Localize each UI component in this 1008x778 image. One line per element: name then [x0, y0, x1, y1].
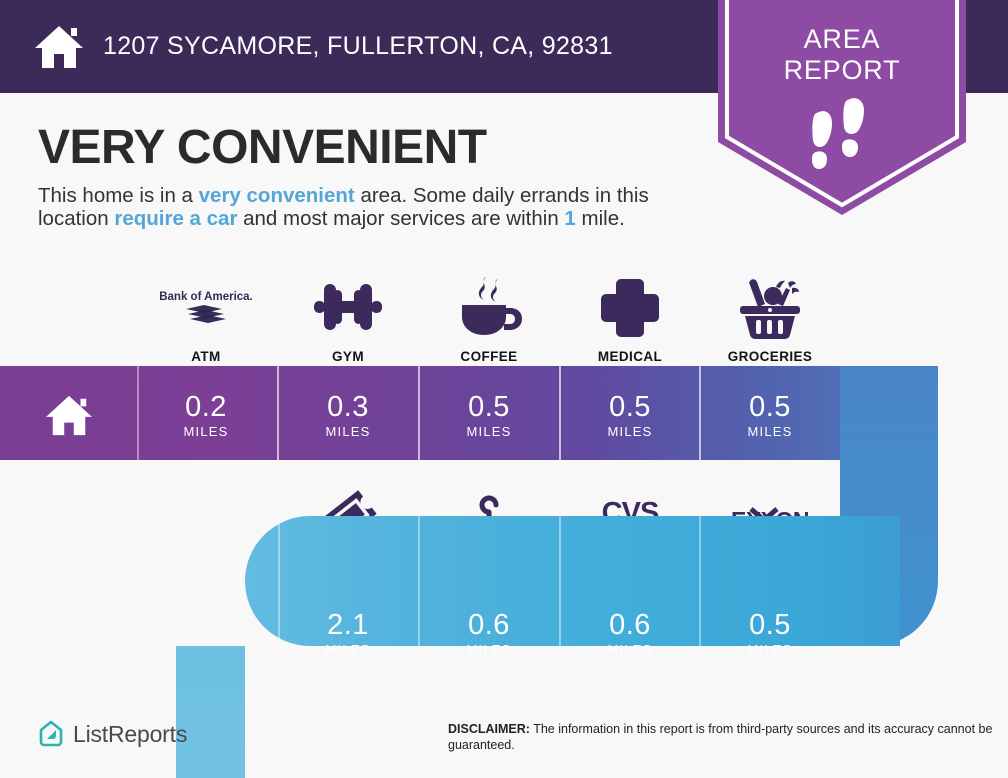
distance-value: 0.5 [559, 392, 701, 422]
distance-unit: MILES [699, 642, 841, 658]
distance-value: 0.6 [418, 610, 560, 640]
distance-unit: MILES [559, 424, 701, 440]
icon-label: GYM [332, 349, 364, 364]
badge-line-2: REPORT [718, 55, 966, 86]
home-marker-icon [44, 393, 94, 437]
home-icon [33, 24, 85, 70]
summary-highlight: 1 [564, 207, 575, 230]
distance-value: 0.3 [277, 392, 419, 422]
distance-unit: MILES [277, 424, 419, 440]
distance-value: 2.1 [277, 610, 419, 640]
distance-groceries: 0.5 MILES [699, 392, 841, 440]
distance-pharmacy: 0.6 MILES [559, 610, 701, 658]
icon-label: ATM [191, 349, 220, 364]
icon-cell-gym: GYM [277, 268, 419, 364]
dumbbell-icon [312, 274, 384, 340]
disclaimer-text: The information in this report is from t… [448, 722, 992, 752]
distance-value: 0.5 [418, 392, 560, 422]
distance-value: 0.5 [699, 392, 841, 422]
bank-of-america-logo: Bank of America. [160, 274, 252, 340]
summary-text: and most major services are within [237, 207, 564, 230]
summary-highlight: require a car [114, 207, 237, 230]
distance-value: 0.6 [559, 610, 701, 640]
icon-label: GROCERIES [728, 349, 813, 364]
badge-line-1: AREA [718, 24, 966, 55]
brand-name: ListReports [73, 721, 187, 748]
grocery-basket-icon [736, 274, 804, 340]
summary-text: This home is in a [38, 184, 199, 207]
distance-unit: MILES [135, 424, 277, 440]
distance-unit: MILES [699, 424, 841, 440]
disclaimer: DISCLAIMER: The information in this repo… [448, 722, 994, 753]
page-title: VERY CONVENIENT [38, 120, 487, 175]
badge-text: AREA REPORT [718, 24, 966, 86]
distance-gas: 0.5 MILES [699, 610, 841, 658]
distance-cleaners: 0.6 MILES [418, 610, 560, 658]
track-tail [160, 636, 260, 778]
area-report-badge: AREA REPORT [718, 0, 966, 215]
summary-text: mile. [576, 207, 625, 230]
icon-cell-atm: Bank of America. ATM [135, 268, 277, 364]
distance-value: 0.2 [135, 392, 277, 422]
svg-text:Bank of America.: Bank of America. [160, 291, 252, 303]
brand-logo: ListReports [38, 720, 187, 748]
summary-paragraph: This home is in a very convenient area. … [38, 184, 718, 230]
coffee-cup-icon [456, 274, 522, 340]
distance-unit: MILES [418, 642, 560, 658]
distance-gym: 0.3 MILES [277, 392, 419, 440]
medical-cross-icon [600, 274, 660, 340]
icon-cell-coffee: COFFEE [418, 268, 560, 364]
distance-medical: 0.5 MILES [559, 392, 701, 440]
header-address: 1207 SYCAMORE, FULLERTON, CA, 92831 [103, 32, 613, 61]
distance-value: 0.5 [699, 610, 841, 640]
distance-unit: MILES [418, 424, 560, 440]
distance-unit: MILES [277, 642, 419, 658]
disclaimer-label: DISCLAIMER: [448, 722, 530, 736]
icon-label: COFFEE [460, 349, 517, 364]
summary-highlight: very convenient [199, 184, 355, 207]
distance-unit: MILES [559, 642, 701, 658]
distance-atm: 0.2 MILES [135, 392, 277, 440]
icon-cell-medical: MEDICAL [559, 268, 701, 364]
listreports-logo [38, 720, 64, 748]
area-report-page: 1207 SYCAMORE, FULLERTON, CA, 92831 AREA… [0, 0, 1008, 778]
icon-label: MEDICAL [598, 349, 662, 364]
distance-movie-theater: 2.1 MILES [277, 610, 419, 658]
distance-coffee: 0.5 MILES [418, 392, 560, 440]
icon-cell-groceries: GROCERIES [699, 268, 841, 364]
